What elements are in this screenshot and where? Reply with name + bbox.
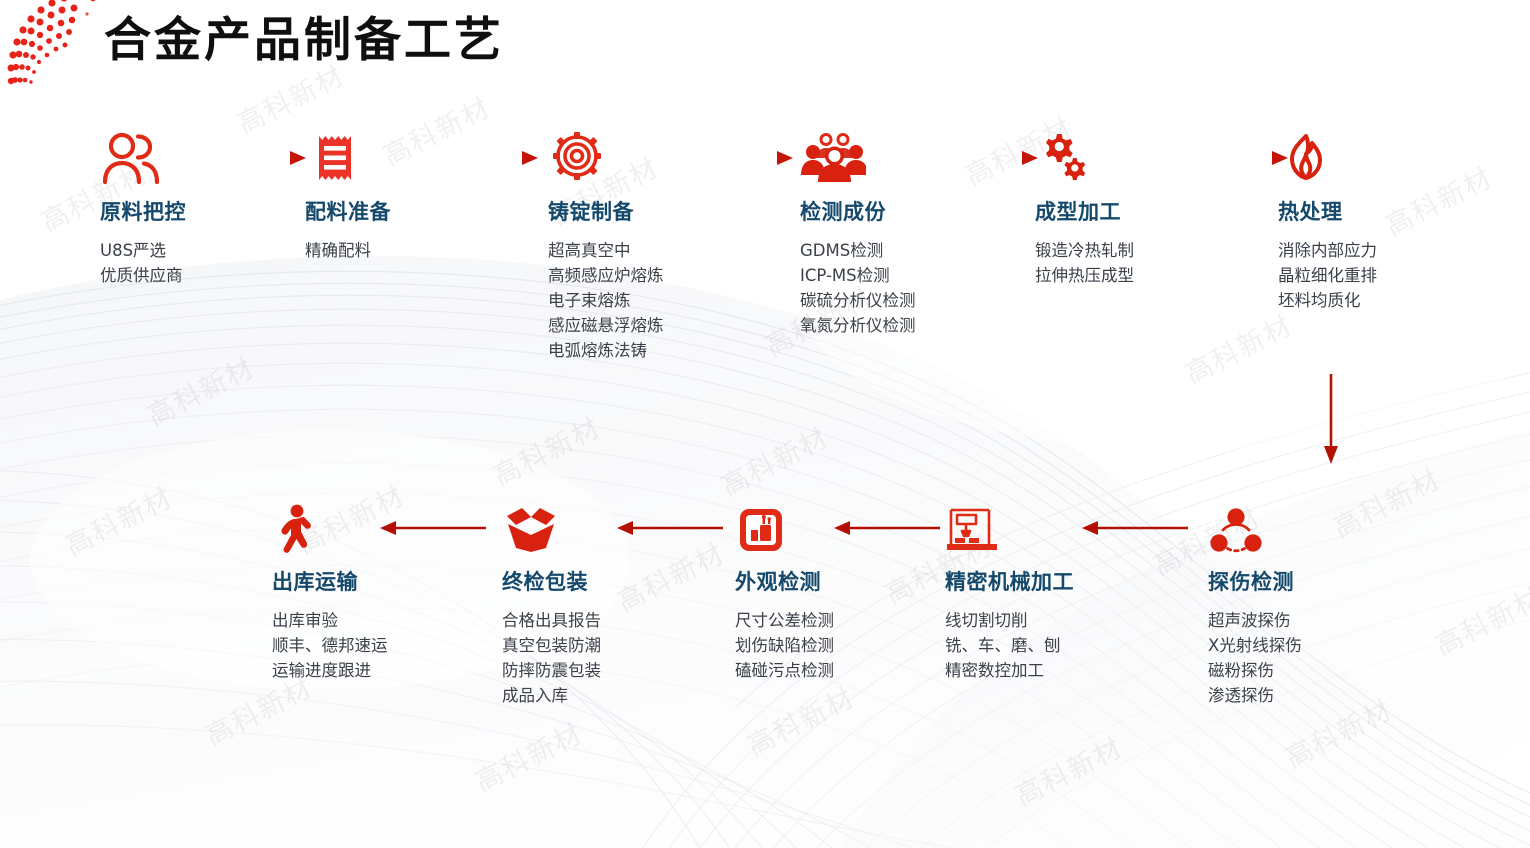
step-title: 精密机械加工: [945, 566, 1155, 596]
detail-line: 铣、车、磨、刨: [945, 633, 1155, 658]
step-details: 出库审验 顺丰、德邦速运 运输进度跟进: [272, 608, 482, 683]
detail-line: 电弧熔炼法铸: [548, 338, 758, 363]
detail-line: 合格出具报告: [502, 608, 712, 633]
detail-line: X光射线探伤: [1208, 633, 1418, 658]
step-details: 锻造冷热轧制 拉伸热压成型: [1035, 238, 1245, 288]
detail-line: 感应磁悬浮熔炼: [548, 313, 758, 338]
three-circle-icon: [1208, 498, 1418, 554]
step-title: 检测成份: [800, 196, 1010, 226]
step-details: 精确配料: [305, 238, 515, 263]
arrow-right: [685, 150, 795, 166]
detail-line: 精密数控加工: [945, 658, 1155, 683]
step-details: 超声波探伤 X光射线探伤 磁粉探伤 渗透探伤: [1208, 608, 1418, 708]
detail-line: 锻造冷热轧制: [1035, 238, 1245, 263]
step-details: 线切割切削 铣、车、磨、刨 精密数控加工: [945, 608, 1155, 683]
detail-line: GDMS检测: [800, 238, 1010, 263]
flame-icon: [1278, 128, 1488, 184]
detail-line: 电子束熔炼: [548, 288, 758, 313]
inspection-screen-icon: [735, 498, 945, 554]
step-outbound-shipping[interactable]: 出库运输 出库审验 顺丰、德邦速运 运输进度跟进: [272, 498, 482, 683]
step-title: 外观检测: [735, 566, 945, 596]
arrow-right: [930, 150, 1040, 166]
step-title: 铸锭制备: [548, 196, 758, 226]
step-details: U8S严选 优质供应商: [100, 238, 310, 288]
detail-line: 消除内部应力: [1278, 238, 1488, 263]
arrow-right: [430, 150, 540, 166]
step-details: GDMS检测 ICP-MS检测 碳硫分析仪检测 氧氮分析仪检测: [800, 238, 1010, 338]
arrow-right: [1180, 150, 1290, 166]
detail-line: 坯料均质化: [1278, 288, 1488, 313]
detail-line: 高频感应炉熔炼: [548, 263, 758, 288]
detail-line: 磁粉探伤: [1208, 658, 1418, 683]
step-appearance-inspection[interactable]: 外观检测 尺寸公差检测 划伤缺陷检测 磕碰污点检测: [735, 498, 945, 683]
step-title: 原料把控: [100, 196, 310, 226]
step-flaw-detection[interactable]: 探伤检测 超声波探伤 X光射线探伤 磁粉探伤 渗透探伤: [1208, 498, 1418, 708]
detail-line: 优质供应商: [100, 263, 310, 288]
arrow-right: [198, 150, 308, 166]
step-details: 尺寸公差检测 划伤缺陷检测 磕碰污点检测: [735, 608, 945, 683]
step-title: 出库运输: [272, 566, 482, 596]
step-final-inspection-packaging[interactable]: 终检包装 合格出具报告 真空包装防潮 防摔防震包装 成品入库: [502, 498, 712, 708]
page-title: 合金产品制备工艺: [104, 12, 504, 71]
process-flow: 原料把控 U8S严选 优质供应商: [0, 0, 1530, 848]
step-precision-machining[interactable]: 精密机械加工 线切割切削 铣、车、磨、刨 精密数控加工: [945, 498, 1155, 683]
detail-line: 出库审验: [272, 608, 482, 633]
arrow-down: [1322, 372, 1340, 466]
step-title: 配料准备: [305, 196, 515, 226]
detail-line: 运输进度跟进: [272, 658, 482, 683]
step-title: 成型加工: [1035, 196, 1245, 226]
detail-line: 拉伸热压成型: [1035, 263, 1245, 288]
detail-line: 防摔防震包装: [502, 658, 712, 683]
detail-line: 碳硫分析仪检测: [800, 288, 1010, 313]
detail-line: 真空包装防潮: [502, 633, 712, 658]
detail-line: ICP-MS检测: [800, 263, 1010, 288]
step-title: 终检包装: [502, 566, 712, 596]
walking-person-icon: [272, 498, 482, 554]
step-title: 探伤检测: [1208, 566, 1418, 596]
step-details: 超高真空中 高频感应炉熔炼 电子束熔炼 感应磁悬浮熔炼 电弧熔炼法铸: [548, 238, 758, 363]
detail-line: 超声波探伤: [1208, 608, 1418, 633]
detail-line: 精确配料: [305, 238, 515, 263]
detail-line: 成品入库: [502, 683, 712, 708]
detail-line: 线切割切削: [945, 608, 1155, 633]
step-details: 合格出具报告 真空包装防潮 防摔防震包装 成品入库: [502, 608, 712, 708]
infographic-canvas: 高科新材 高科新材 高科新材 高科新材 高科新材 高科新材 高科新材 高科新材 …: [0, 0, 1530, 848]
detail-line: U8S严选: [100, 238, 310, 263]
detail-line: 磕碰污点检测: [735, 658, 945, 683]
step-heat-treatment[interactable]: 热处理 消除内部应力 晶粒细化重排 坯料均质化: [1278, 128, 1488, 313]
detail-line: 氧氮分析仪检测: [800, 313, 1010, 338]
detail-line: 尺寸公差检测: [735, 608, 945, 633]
detail-line: 超高真空中: [548, 238, 758, 263]
detail-line: 晶粒细化重排: [1278, 263, 1488, 288]
detail-line: 渗透探伤: [1208, 683, 1418, 708]
step-title: 热处理: [1278, 196, 1488, 226]
detail-line: 顺丰、德邦速运: [272, 633, 482, 658]
step-details: 消除内部应力 晶粒细化重排 坯料均质化: [1278, 238, 1488, 313]
detail-line: 划伤缺陷检测: [735, 633, 945, 658]
open-box-icon: [502, 498, 712, 554]
step-batching-preparation[interactable]: 配料准备 精确配料: [305, 128, 515, 263]
cnc-machine-icon: [945, 498, 1155, 554]
